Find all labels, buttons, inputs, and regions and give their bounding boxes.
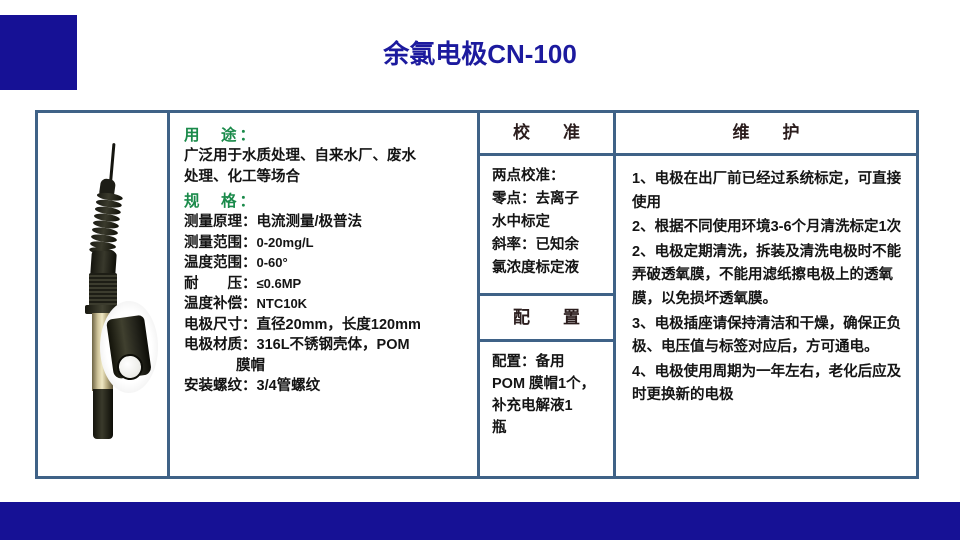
spec-row-continuation: 膜帽 (184, 356, 471, 377)
product-image-cell (38, 113, 167, 476)
page-title: 余氯电极CN-100 (0, 34, 960, 71)
spec-row: 温度补偿：NTC10K (184, 294, 471, 315)
calibration-line: 斜率：已知余 (492, 234, 609, 257)
spec-row: 耐 压：≤0.6MP (184, 274, 471, 295)
spec-row: 安装螺纹：3/4管螺纹 (184, 376, 471, 397)
spec-sheet-panel: 用 途： 广泛用于水质处理、自来水厂、废水 处理、化工等场合 规 格： 测量原理… (35, 110, 919, 479)
calibration-header: 校 准 (480, 113, 613, 153)
configuration-line: 配置：备用 (492, 351, 607, 373)
membrane-cap-inset (100, 301, 158, 393)
calibration-line: 水中标定 (492, 211, 609, 234)
electrode-tip (93, 389, 113, 439)
spec-row: 电极材质：316L不锈钢壳体，POM (184, 335, 471, 356)
spec-row: 电极尺寸：直径20mm，长度120mm (184, 315, 471, 336)
configuration-line: 补充电解液1 (492, 395, 607, 417)
spec-value: 电流测量/极普法 (257, 214, 363, 230)
maintenance-item: 3、电极插座请保持清洁和干燥，确保正负极、电压值与标签对应后，方可通电。 (632, 313, 902, 360)
spec-label: 温度补偿： (184, 296, 257, 312)
spec-value: 3/4管螺纹 (257, 378, 321, 394)
spec-value: 直径20mm，长度120mm (257, 317, 421, 333)
spec-value: ≤0.6MP (257, 276, 302, 291)
calibration-configuration-cell: 校 准 两点校准： 零点：去离子 水中标定 斜率：已知余 氯浓度标定液 配 置 … (480, 113, 613, 476)
spec-label: 耐 压： (184, 276, 257, 292)
spec-value: 0-60° (257, 255, 288, 270)
maintenance-body: 1、电极在出厂前已经过系统标定，可直接使用 2、根据不同使用环境3-6个月清洗标… (616, 159, 916, 409)
electrode-illustration (68, 143, 138, 443)
spec-value: 316L不锈钢壳体，POM (257, 337, 410, 353)
maintenance-item: 1、电极在出厂前已经过系统标定，可直接使用 (632, 168, 902, 215)
calibration-line: 两点校准： (492, 165, 609, 188)
spec-row: 测量原理：电流测量/极普法 (184, 212, 471, 233)
electrode-thread (89, 273, 117, 307)
maintenance-item: 2、根据不同使用环境3-6个月清洗标定1次 (632, 216, 902, 240)
spec-value: NTC10K (257, 296, 308, 311)
spec-label: 测量原理： (184, 214, 257, 230)
spec-row: 温度范围：0-60° (184, 253, 471, 274)
spiral-strain-relief (89, 191, 123, 256)
calibration-line: 零点：去离子 (492, 188, 609, 211)
calibration-line: 氯浓度标定液 (492, 257, 609, 280)
calibration-body: 两点校准： 零点：去离子 水中标定 斜率：已知余 氯浓度标定液 (480, 157, 613, 280)
use-heading: 用 途： (184, 123, 471, 145)
maintenance-cell: 维 护 1、电极在出厂前已经过系统标定，可直接使用 2、根据不同使用环境3-6个… (616, 113, 916, 476)
spec-label: 温度范围： (184, 255, 257, 271)
spec-label: 电极尺寸： (184, 317, 257, 333)
spec-label: 电极材质： (184, 337, 257, 353)
spec-row: 测量范围：0-20mg/L (184, 233, 471, 254)
use-line: 处理、化工等场合 (184, 167, 471, 188)
maintenance-item: 2、电极定期清洗，拆装及清洗电极时不能弄破透氧膜，不能用滤纸擦电极上的透氧膜，以… (632, 241, 902, 312)
spec-heading: 规 格： (184, 189, 471, 211)
spec-label: 安装螺纹： (184, 378, 257, 394)
bottom-accent-bar (0, 502, 960, 540)
spec-label: 测量范围： (184, 235, 257, 251)
maintenance-header: 维 护 (616, 113, 916, 153)
specification-cell: 用 途： 广泛用于水质处理、自来水厂、废水 处理、化工等场合 规 格： 测量原理… (170, 113, 477, 476)
configuration-line: POM 膜帽1个， (492, 373, 607, 395)
spec-value: 0-20mg/L (257, 235, 314, 250)
configuration-header: 配 置 (480, 296, 613, 339)
cable-icon (109, 143, 115, 183)
use-line: 广泛用于水质处理、自来水厂、废水 (184, 146, 471, 167)
configuration-body: 配置：备用 POM 膜帽1个， 补充电解液1 瓶 (480, 345, 613, 439)
maintenance-item: 4、电极使用周期为一年左右，老化后应及时更换新的电极 (632, 361, 902, 408)
configuration-line: 瓶 (492, 417, 607, 439)
